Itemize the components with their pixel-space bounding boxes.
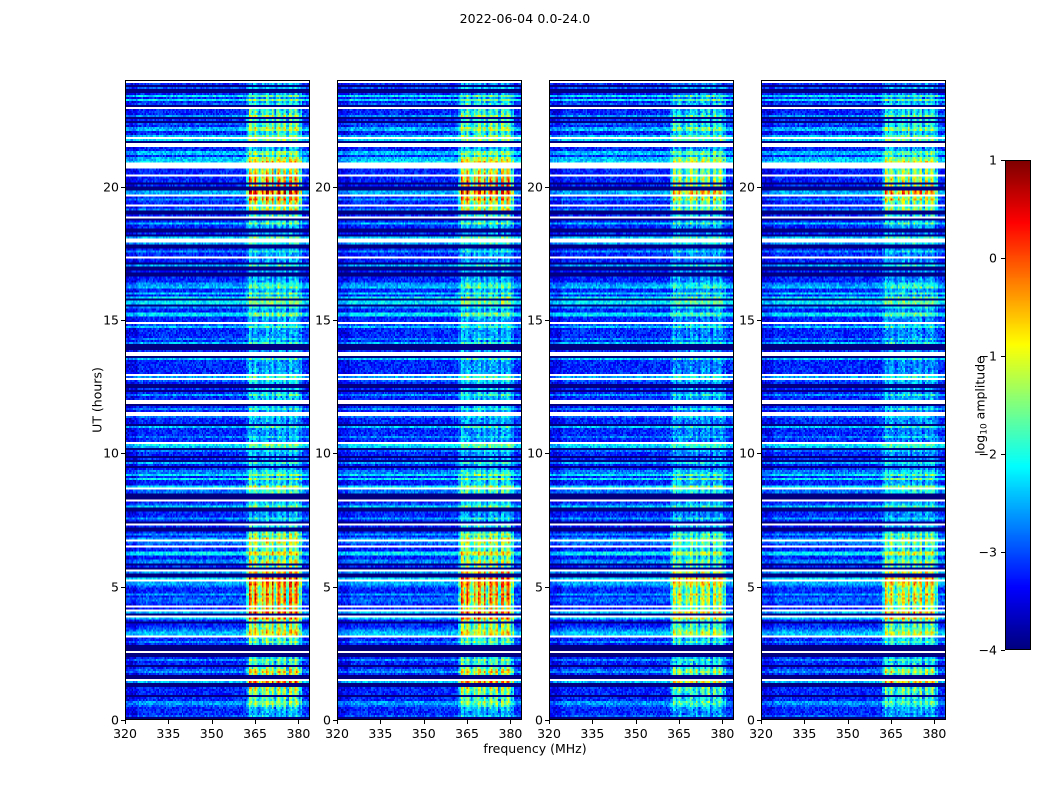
x-tick-label: 335: [156, 726, 180, 741]
y-tick-label: 0: [515, 713, 543, 728]
x-tick-label: 320: [113, 726, 137, 741]
colorbar-label-prefix: log: [972, 435, 987, 454]
colorbar-label-subscript: 10: [980, 423, 990, 434]
y-tickmark: [333, 587, 337, 588]
colorbar-tick-label: 0: [965, 251, 997, 266]
y-tickmark: [757, 587, 761, 588]
x-tickmark: [592, 720, 593, 724]
dynamic-spectrum-image: [762, 81, 945, 719]
dynamic-spectrum-image: [126, 81, 309, 719]
x-tick-label: 365: [243, 726, 267, 741]
colorbar-tick-label: −3: [965, 545, 997, 560]
y-tick-label: 20: [515, 179, 543, 194]
y-tick-label: 20: [303, 179, 331, 194]
x-tick-label: 380: [287, 726, 311, 741]
y-tick-label: 5: [515, 579, 543, 594]
colorbar-tickmark: [1001, 454, 1005, 455]
y-axis-label: UT (hours): [90, 367, 105, 433]
y-tick-label: 15: [303, 313, 331, 328]
y-tick-label: 20: [91, 179, 119, 194]
y-tickmark: [545, 453, 549, 454]
y-tickmark: [757, 187, 761, 188]
x-tick-label: 335: [368, 726, 392, 741]
x-tickmark: [804, 720, 805, 724]
y-tickmark: [333, 453, 337, 454]
x-tick-label: 380: [499, 726, 523, 741]
y-tickmark: [757, 453, 761, 454]
x-tick-label: 320: [325, 726, 349, 741]
y-tick-label: 0: [91, 713, 119, 728]
colorbar-tickmark: [1001, 258, 1005, 259]
y-tick-label: 0: [303, 713, 331, 728]
y-tick-label: 5: [91, 579, 119, 594]
y-tickmark: [757, 320, 761, 321]
x-tick-label: 335: [580, 726, 604, 741]
x-tick-label: 365: [879, 726, 903, 741]
x-tick-label: 350: [200, 726, 224, 741]
y-tickmark: [333, 720, 337, 721]
y-tick-label: 10: [515, 446, 543, 461]
x-tickmark: [848, 720, 849, 724]
y-tickmark: [121, 453, 125, 454]
x-tickmark: [255, 720, 256, 724]
y-tick-label: 15: [91, 313, 119, 328]
x-tick-label: 350: [412, 726, 436, 741]
y-tickmark: [333, 187, 337, 188]
x-tickmark: [510, 720, 511, 724]
y-tickmark: [333, 320, 337, 321]
figure-canvas: 2022-06-04 0.0-24.0 XX, V0*V13=EA09*EA18…: [0, 0, 1050, 800]
x-tick-label: 320: [537, 726, 561, 741]
x-tick-label: 365: [455, 726, 479, 741]
x-tickmark: [168, 720, 169, 724]
x-tick-label: 320: [749, 726, 773, 741]
x-tick-label: 335: [792, 726, 816, 741]
colorbar-label-suffix: amplitude: [972, 356, 987, 423]
x-tickmark: [679, 720, 680, 724]
spectrum-pixels: [126, 81, 309, 719]
spectrum-panel-xy[interactable]: XY, V0*V13=EA09*EA18: [549, 80, 734, 720]
y-tick-label: 10: [727, 446, 755, 461]
x-tick-label: 365: [667, 726, 691, 741]
y-tickmark: [757, 720, 761, 721]
x-tick-label: 350: [624, 726, 648, 741]
x-tick-label: 350: [836, 726, 860, 741]
colorbar-tickmark: [1001, 650, 1005, 651]
x-tickmark: [212, 720, 213, 724]
spectrum-pixels: [338, 81, 521, 719]
spectrum-panel-yx[interactable]: YX, V0*V13=EA09*EA18: [761, 80, 946, 720]
x-tickmark: [424, 720, 425, 724]
y-tick-label: 5: [303, 579, 331, 594]
spectrum-pixels: [762, 81, 945, 719]
y-tick-label: 5: [727, 579, 755, 594]
y-tick-label: 15: [515, 313, 543, 328]
y-tick-label: 10: [91, 446, 119, 461]
y-tick-label: 0: [727, 713, 755, 728]
colorbar-tick-label: −4: [965, 643, 997, 658]
x-tickmark: [467, 720, 468, 724]
y-tickmark: [545, 320, 549, 321]
y-tickmark: [545, 187, 549, 188]
x-tickmark: [337, 720, 338, 724]
x-tickmark: [722, 720, 723, 724]
x-tickmark: [125, 720, 126, 724]
x-tickmark: [891, 720, 892, 724]
y-tick-label: 20: [727, 179, 755, 194]
y-tickmark: [545, 587, 549, 588]
colorbar-tickmark: [1001, 160, 1005, 161]
dynamic-spectrum-image: [550, 81, 733, 719]
y-tickmark: [121, 320, 125, 321]
x-axis-label: frequency (MHz): [483, 741, 586, 756]
colorbar-tickmark: [1001, 356, 1005, 357]
colorbar-tickmark: [1001, 552, 1005, 553]
x-tick-label: 380: [923, 726, 947, 741]
x-tickmark: [761, 720, 762, 724]
colorbar-label: log10 amplitude: [972, 356, 989, 454]
colorbar-gradient: [1006, 161, 1030, 649]
y-tickmark: [121, 587, 125, 588]
x-tickmark: [549, 720, 550, 724]
x-tickmark: [636, 720, 637, 724]
y-tickmark: [121, 187, 125, 188]
dynamic-spectrum-image: [338, 81, 521, 719]
x-tickmark: [298, 720, 299, 724]
y-tickmark: [121, 720, 125, 721]
y-tickmark: [545, 720, 549, 721]
x-tickmark: [934, 720, 935, 724]
spectrum-pixels: [550, 81, 733, 719]
x-tickmark: [380, 720, 381, 724]
figure-suptitle: 2022-06-04 0.0-24.0: [0, 11, 1050, 26]
spectrum-panel-xx[interactable]: XX, V0*V13=EA09*EA18: [125, 80, 310, 720]
colorbar-tick-label: 1: [965, 153, 997, 168]
x-tick-label: 380: [711, 726, 735, 741]
y-tick-label: 15: [727, 313, 755, 328]
y-tick-label: 10: [303, 446, 331, 461]
colorbar: [1005, 160, 1031, 650]
spectrum-panel-yy[interactable]: YY, V0*V13=EA09*EA18: [337, 80, 522, 720]
